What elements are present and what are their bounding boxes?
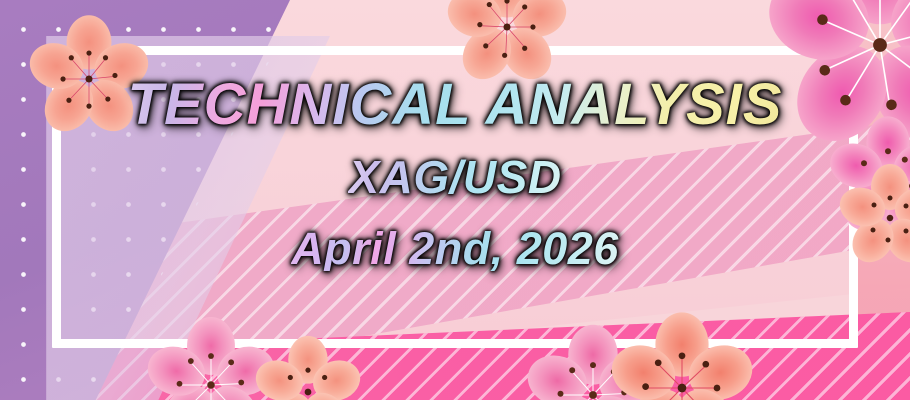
instrument-pair: XAG/USD — [348, 154, 561, 200]
banner-text-block: TECHNICAL ANALYSIS XAG/USD April 2nd, 20… — [0, 0, 910, 400]
date-label: April 2nd, 2026 — [291, 226, 619, 271]
technical-analysis-banner: TECHNICAL ANALYSIS XAG/USD April 2nd, 20… — [0, 0, 910, 400]
page-title: TECHNICAL ANALYSIS — [128, 76, 783, 134]
flower-bottom-center-salmon — [612, 318, 752, 400]
flower-bottom-left-salmon — [256, 340, 360, 400]
